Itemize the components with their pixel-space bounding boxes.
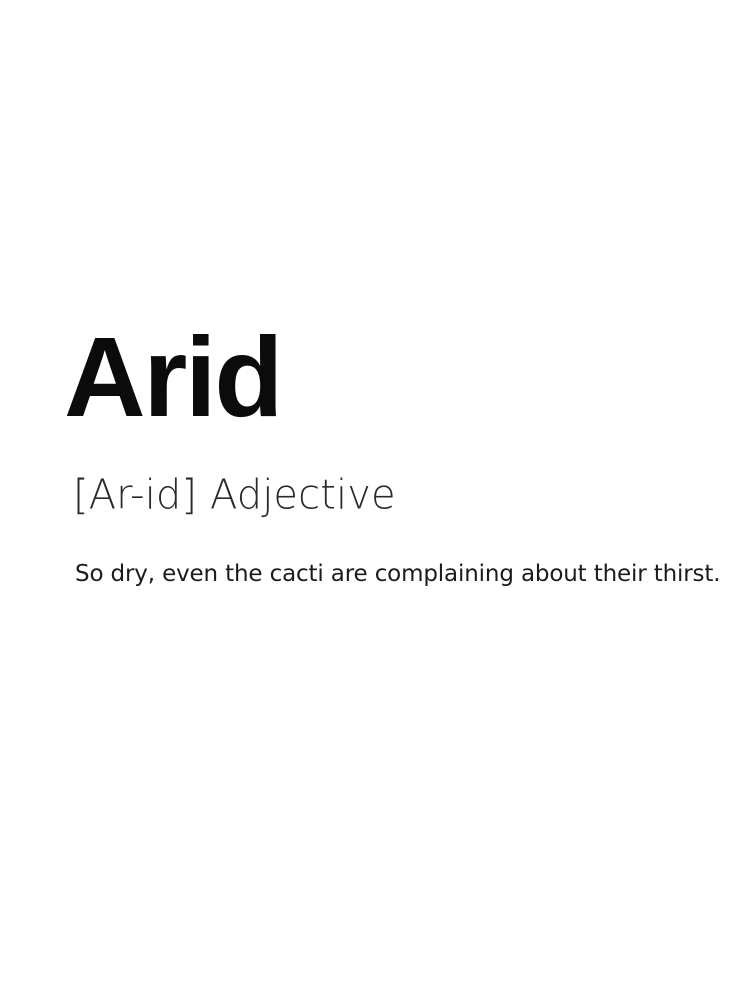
pronunciation-line: [Ar-id] Adjective — [0, 475, 748, 516]
definition-description: So dry, even the cacti are complaining a… — [0, 560, 748, 589]
part-of-speech-text: Adjective — [210, 472, 396, 519]
definition-block: Arid [Ar-id] Adjective So dry, even the … — [0, 316, 748, 589]
poster-canvas: Arid [Ar-id] Adjective So dry, even the … — [0, 0, 748, 1000]
headword-title: Arid — [0, 316, 748, 434]
pronunciation-separator — [197, 472, 210, 519]
pronunciation-text: [Ar-id] — [73, 472, 197, 519]
